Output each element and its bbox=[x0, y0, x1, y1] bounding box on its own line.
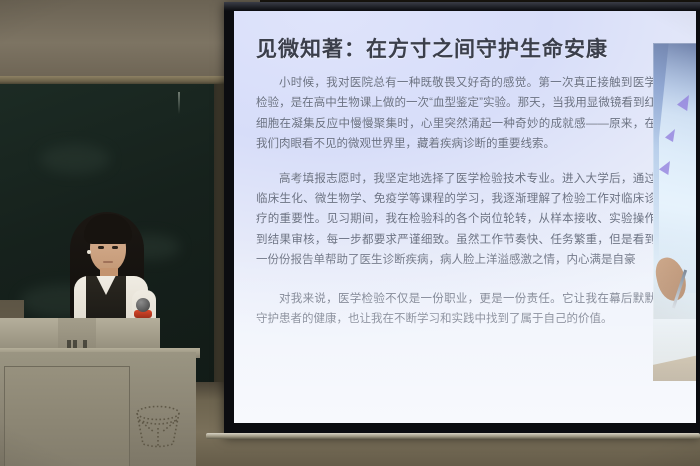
presentation-slide: 见微知著：在方寸之间守护生命安康 小时候，我对医院总有一种既敬畏又好奇的感觉。第… bbox=[234, 11, 696, 423]
lab-coat-writing-photo bbox=[653, 43, 696, 381]
mouth bbox=[103, 261, 113, 263]
slide-paragraph-1: 小时候，我对医院总有一种既敬畏又好奇的感觉。第一次真正接触到医学检验，是在高中生… bbox=[256, 73, 656, 155]
podium-front-panel bbox=[4, 366, 130, 466]
upper-wall bbox=[0, 0, 260, 78]
earring bbox=[87, 250, 91, 254]
slide-paragraph-2: 高考填报志愿时，我坚定地选择了医学检验技术专业。进入大学后，通过临床生化、微生物… bbox=[256, 169, 656, 271]
dotted-trapezoid-emblem-icon bbox=[130, 404, 186, 450]
slide-body: 小时候，我对医院总有一种既敬畏又好奇的感觉。第一次真正接触到医学检验，是在高中生… bbox=[256, 73, 656, 343]
microphone-icon bbox=[136, 298, 150, 312]
slide-paragraph-3: 对我来说，医学检验不仅是一份职业，更是一份责任。它让我在幕后默默守护患者的健康，… bbox=[256, 289, 656, 330]
lecture-hall-scene: 见微知著：在方寸之间守护生命安康 小时候，我对医院总有一种既敬畏又好奇的感觉。第… bbox=[0, 0, 700, 466]
chalk-mark bbox=[178, 92, 180, 114]
projection-screen-rail bbox=[206, 433, 700, 439]
slide-title: 见微知著：在方寸之间守护生命安康 bbox=[256, 37, 646, 62]
